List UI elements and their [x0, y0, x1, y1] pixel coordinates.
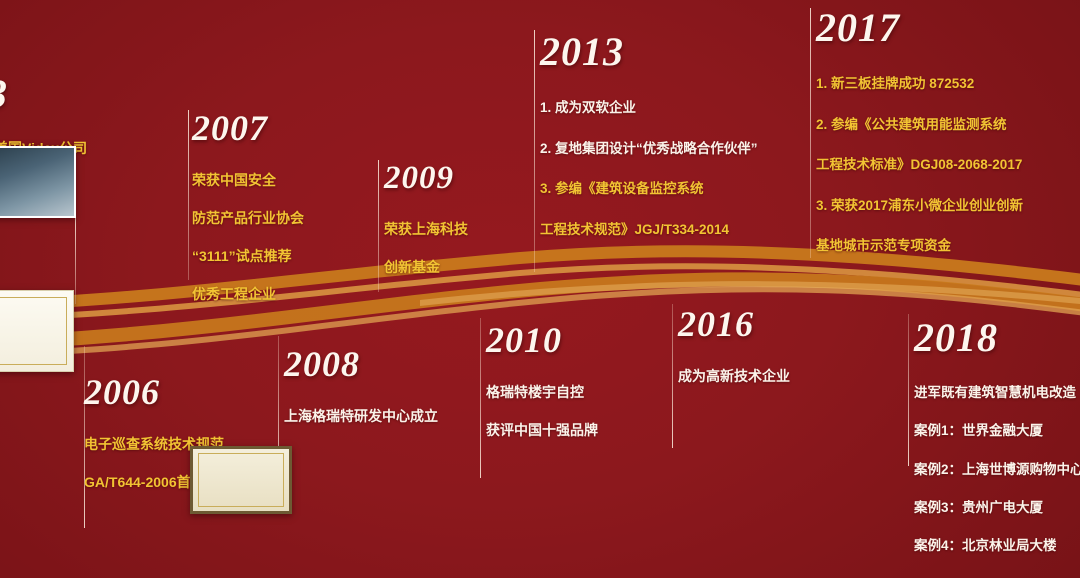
- entry-2008-year: 2008: [284, 346, 504, 382]
- connector-line-2017: [810, 8, 811, 258]
- entry-2008-description: 上海格瑞特研发中心成立: [284, 388, 504, 445]
- entry-2018-line-2: 案例1：世界金融大厦: [914, 421, 1080, 440]
- entry-2009-line-1: 荣获上海科技: [384, 220, 544, 239]
- entry-2013-item-3-cont: 工程技术规范》JGJ/T334-2014: [540, 220, 800, 240]
- entry-2009-year: 2009: [384, 162, 544, 195]
- timeline-infographic: 03 考察美国Videx公司 Vicon公司 2006 电子巡查系统技术规范 G…: [0, 0, 1080, 578]
- entry-2017-item-2: 2. 参编《公共建筑用能监测系统: [816, 115, 1072, 135]
- entry-2007-line-2: 防范产品行业协会: [192, 209, 372, 228]
- entry-2009-line-2: 创新基金: [384, 258, 544, 277]
- entry-2018-line-5: 案例4：北京林业局大楼: [914, 536, 1080, 555]
- entry-2008[interactable]: 2008 上海格瑞特研发中心成立: [284, 346, 504, 445]
- entry-2017-item-3-cont: 基地城市示范专项资金: [816, 236, 1072, 256]
- entry-2017-description: 1. 新三板挂牌成功 872532 2. 参编《公共建筑用能监测系统 工程技术标…: [816, 54, 1072, 277]
- entry-2010-line-1: 格瑞特楼宇自控: [486, 383, 676, 402]
- entry-2013-year: 2013: [540, 32, 800, 72]
- entry-2018-line-3: 案例2：上海世博源购物中心: [914, 460, 1080, 479]
- entry-2018[interactable]: 2018 进军既有建筑智慧机电改造 案例1：世界金融大厦 案例2：上海世博源购物…: [914, 318, 1080, 575]
- entry-2018-description: 进军既有建筑智慧机电改造 案例1：世界金融大厦 案例2：上海世博源购物中心 案例…: [914, 364, 1080, 575]
- entry-2003-year: 03: [0, 74, 126, 114]
- entry-2017-year: 2017: [816, 8, 1072, 48]
- entry-2009-description: 荣获上海科技 创新基金: [384, 201, 544, 296]
- entry-2008-line-1: 上海格瑞特研发中心成立: [284, 407, 504, 426]
- entry-2010-year: 2010: [486, 322, 676, 358]
- entry-2017-item-2-cont: 工程技术标准》DGJ08-2068-2017: [816, 155, 1072, 175]
- entry-2003-exhibition-photo[interactable]: [0, 146, 76, 218]
- entry-2013-item-3: 3. 参编《建筑设备监控系统: [540, 179, 800, 199]
- entry-2018-year: 2018: [914, 318, 1080, 358]
- entry-2009[interactable]: 2009 荣获上海科技 创新基金: [384, 162, 544, 296]
- entry-2017-item-1: 1. 新三板挂牌成功 872532: [816, 74, 1072, 94]
- entry-2010-line-2: 获评中国十强品牌: [486, 421, 676, 440]
- entry-2007-line-1: 荣获中国安全: [192, 171, 372, 190]
- entry-2017[interactable]: 2017 1. 新三板挂牌成功 872532 2. 参编《公共建筑用能监测系统 …: [816, 8, 1072, 277]
- connector-line-2009: [378, 160, 379, 292]
- entry-2018-line-1: 进军既有建筑智慧机电改造: [914, 383, 1080, 402]
- entry-2016[interactable]: 2016 成为高新技术企业: [678, 306, 868, 405]
- entry-2017-item-3: 3. 荣获2017浦东小微企业创业创新: [816, 196, 1072, 216]
- connector-line-2003: [75, 218, 76, 304]
- entry-2007-line-4: 优秀工程企业: [192, 285, 372, 304]
- entry-2013[interactable]: 2013 1. 成为双软企业 2. 复地集团设计“优秀战略合作伙伴” 3. 参编…: [540, 32, 800, 260]
- entry-2010[interactable]: 2010 格瑞特楼宇自控 获评中国十强品牌: [486, 322, 676, 459]
- entry-2018-line-4: 案例3：贵州广电大厦: [914, 498, 1080, 517]
- entry-2007-description: 荣获中国安全 防范产品行业协会 “3111”试点推荐 优秀工程企业: [192, 152, 372, 323]
- entry-2013-description: 1. 成为双软企业 2. 复地集团设计“优秀战略合作伙伴” 3. 参编《建筑设备…: [540, 78, 800, 260]
- entry-2007-enterprise-plaque[interactable]: [190, 446, 292, 514]
- entry-2016-line-1: 成为高新技术企业: [678, 367, 868, 386]
- entry-2016-year: 2016: [678, 306, 868, 342]
- entry-2007-line-3: “3111”试点推荐: [192, 247, 372, 266]
- entry-2003-cooperation-certificate[interactable]: [0, 290, 74, 372]
- entry-2013-item-1: 1. 成为双软企业: [540, 98, 800, 118]
- entry-2016-description: 成为高新技术企业: [678, 348, 868, 405]
- entry-2007[interactable]: 2007 荣获中国安全 防范产品行业协会 “3111”试点推荐 优秀工程企业: [192, 110, 372, 323]
- connector-line-2007: [188, 110, 189, 280]
- entry-2010-description: 格瑞特楼宇自控 获评中国十强品牌: [486, 364, 676, 459]
- entry-2007-year: 2007: [192, 110, 372, 146]
- entry-2013-item-2: 2. 复地集团设计“优秀战略合作伙伴”: [540, 139, 800, 159]
- connector-line-2018: [908, 314, 909, 466]
